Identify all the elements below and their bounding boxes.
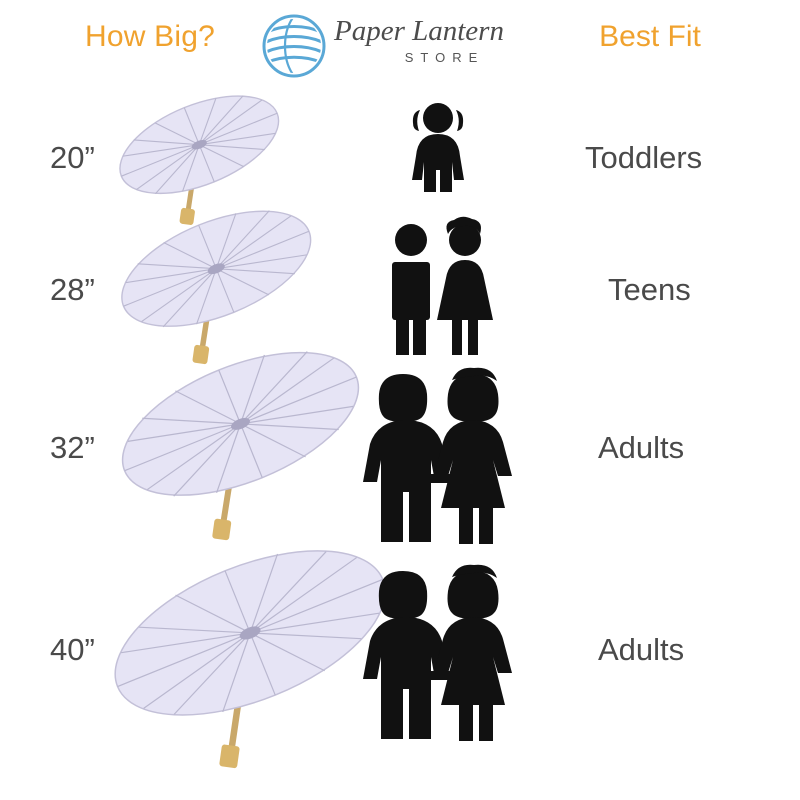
size-label-40: 40”: [50, 632, 95, 668]
adult-couple-icon: [355, 565, 525, 745]
size-label-28: 28”: [50, 272, 95, 308]
logo-wordmark: Paper Lantern STORE: [334, 14, 549, 65]
header-how-big: How Big?: [0, 20, 300, 54]
size-label-32: 32”: [50, 430, 95, 466]
parasol-20: [108, 88, 298, 220]
size-label-20: 20”: [50, 140, 95, 176]
logo-word-line2: STORE: [334, 50, 549, 65]
logo-word-line1: Paper Lantern: [334, 14, 549, 48]
parasol-28: [108, 206, 333, 358]
brand-logo: Paper Lantern STORE: [262, 10, 552, 88]
adult-couple-icon: [355, 368, 525, 548]
infographic-canvas: How Big? Best Fit Paper Lantern STORE 20: [0, 0, 800, 800]
parasol-32: [108, 345, 383, 535]
teen-couple-icon: [378, 222, 498, 357]
toddler-girl-icon: [398, 100, 478, 200]
fit-label-20: Toddlers: [585, 140, 702, 176]
fit-label-32: Adults: [598, 430, 684, 466]
fit-label-40: Adults: [598, 632, 684, 668]
paper-lantern-globe-icon: [262, 14, 326, 78]
fit-label-28: Teens: [608, 272, 691, 308]
